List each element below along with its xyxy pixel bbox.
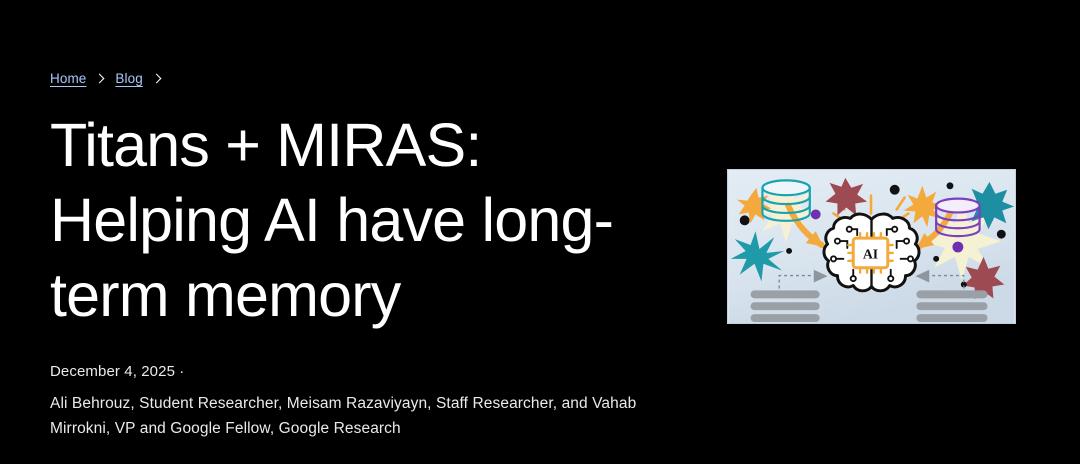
breadcrumb-item-home[interactable]: Home bbox=[50, 72, 86, 86]
data-bars-right bbox=[916, 290, 987, 322]
breadcrumb: Home Blog bbox=[50, 72, 163, 86]
data-bars-left bbox=[751, 290, 820, 322]
hero-illustration-svg: AI bbox=[728, 170, 1015, 323]
chevron-right-icon bbox=[152, 73, 163, 84]
hero-illustration: AI bbox=[727, 169, 1016, 324]
author-byline: Ali Behrouz, Student Researcher, Meisam … bbox=[50, 391, 675, 441]
ai-chip-icon: AI bbox=[848, 233, 892, 272]
blog-post-header: Home Blog Titans + MIRAS: Helping AI hav… bbox=[0, 0, 1080, 464]
publish-date: December 4, 2025 · bbox=[50, 361, 690, 383]
brain-icon: AI bbox=[824, 214, 919, 291]
chevron-right-icon bbox=[95, 73, 106, 84]
ai-chip-label: AI bbox=[863, 246, 878, 261]
post-meta: December 4, 2025 · Ali Behrouz, Student … bbox=[50, 361, 690, 441]
breadcrumb-item-blog[interactable]: Blog bbox=[115, 72, 142, 86]
page-title: Titans + MIRAS: Helping AI have long-ter… bbox=[50, 108, 650, 333]
